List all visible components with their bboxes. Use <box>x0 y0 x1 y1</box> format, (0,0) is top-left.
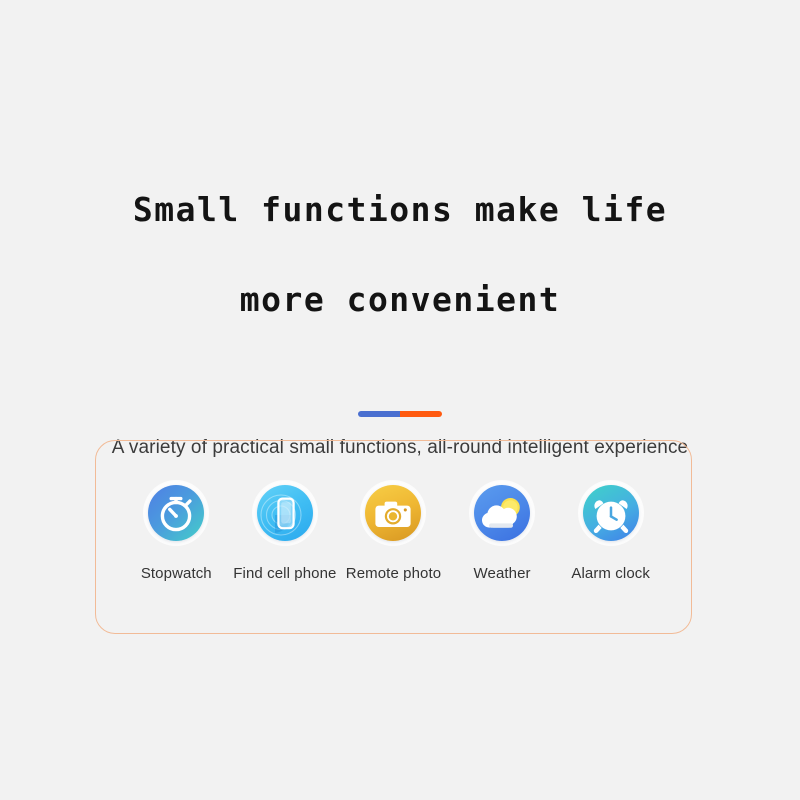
feature-item-weather[interactable]: Weather <box>448 480 557 582</box>
stopwatch-icon-halo <box>143 480 209 546</box>
weather-icon <box>474 485 530 541</box>
stopwatch-icon <box>148 485 204 541</box>
divider-segment-blue <box>358 411 400 417</box>
camera-icon <box>365 485 421 541</box>
divider-segment-orange <box>400 411 442 417</box>
feature-label: Find cell phone <box>233 565 336 582</box>
feature-item-stopwatch[interactable]: Stopwatch <box>122 480 231 582</box>
feature-item-remote-photo[interactable]: Remote photo <box>339 480 448 582</box>
feature-label: Stopwatch <box>141 565 212 582</box>
page-title-line-2: more convenient <box>133 277 667 322</box>
feature-label: Weather <box>474 565 531 582</box>
camera-icon-halo <box>360 480 426 546</box>
feature-label: Remote photo <box>346 565 441 582</box>
feature-item-find-cell-phone[interactable]: Find cell phone <box>231 480 340 582</box>
promo-page: Small functions make life more convenien… <box>0 0 800 800</box>
feature-label: Alarm clock <box>571 565 650 582</box>
weather-icon-halo <box>469 480 535 546</box>
alarm-clock-icon <box>583 485 639 541</box>
page-title-line-1: Small functions make life <box>133 187 667 232</box>
alarm-clock-icon-halo <box>578 480 644 546</box>
page-title: Small functions make life more convenien… <box>133 142 667 367</box>
find-phone-icon <box>257 485 313 541</box>
feature-card: Stopwatch Find <box>95 440 692 634</box>
feature-item-alarm-clock[interactable]: Alarm clock <box>556 480 665 582</box>
find-phone-icon-halo <box>252 480 318 546</box>
title-divider <box>358 411 442 417</box>
